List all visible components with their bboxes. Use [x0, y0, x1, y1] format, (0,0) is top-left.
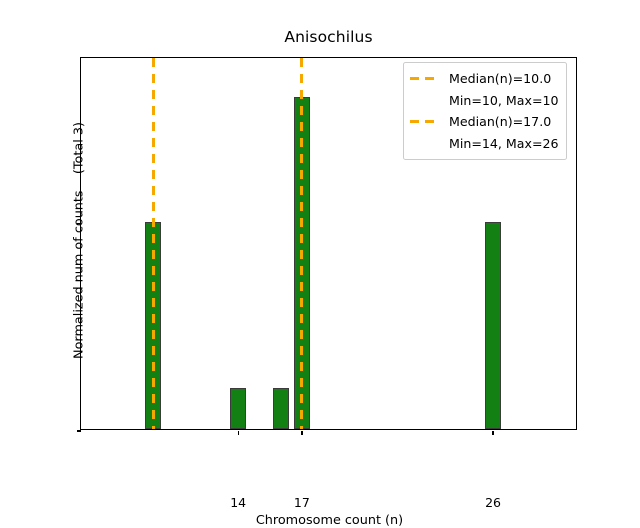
legend-row: Median(n)=10.0: [410, 68, 559, 90]
legend-dashed-line-icon: [410, 77, 440, 80]
legend-label: Median(n)=10.0: [449, 71, 551, 86]
legend-swatch-empty: [410, 99, 440, 102]
legend-row: Median(n)=17.0: [410, 111, 559, 133]
legend-row: Min=14, Max=26: [410, 133, 559, 155]
legend-dashed-line-icon: [410, 120, 440, 123]
median-line: [152, 58, 155, 429]
x-tick-mark: [238, 431, 239, 435]
legend-label: Min=14, Max=26: [449, 136, 559, 151]
x-tick-label: 17: [294, 495, 310, 510]
matplotlib-figure: Anisochilus Normalized num of counts (To…: [0, 0, 640, 480]
plot-axes: Normalized num of counts (Total 3) Chrom…: [80, 57, 577, 430]
x-tick-mark: [301, 431, 302, 435]
legend-label: Min=10, Max=10: [449, 93, 559, 108]
x-tick-label: 26: [485, 495, 501, 510]
y-tick-mark: [77, 430, 81, 431]
legend-label: Median(n)=17.0: [449, 114, 551, 129]
histogram-bar: [273, 388, 289, 429]
x-axis-label: Chromosome count (n): [81, 513, 578, 528]
histogram-bar: [485, 222, 501, 429]
legend-swatch-empty: [410, 142, 440, 145]
chart-title: Anisochilus: [80, 28, 577, 46]
x-tick-mark: [492, 431, 493, 435]
legend-row: Min=10, Max=10: [410, 90, 559, 112]
y-tick-mark: [77, 223, 81, 224]
x-tick-label: 14: [230, 495, 246, 510]
median-line: [300, 58, 303, 429]
y-axis-label: Normalized num of counts (Total 3): [72, 0, 87, 501]
chart-legend: Median(n)=10.0Min=10, Max=10Median(n)=17…: [403, 62, 567, 160]
histogram-bar: [230, 388, 246, 429]
